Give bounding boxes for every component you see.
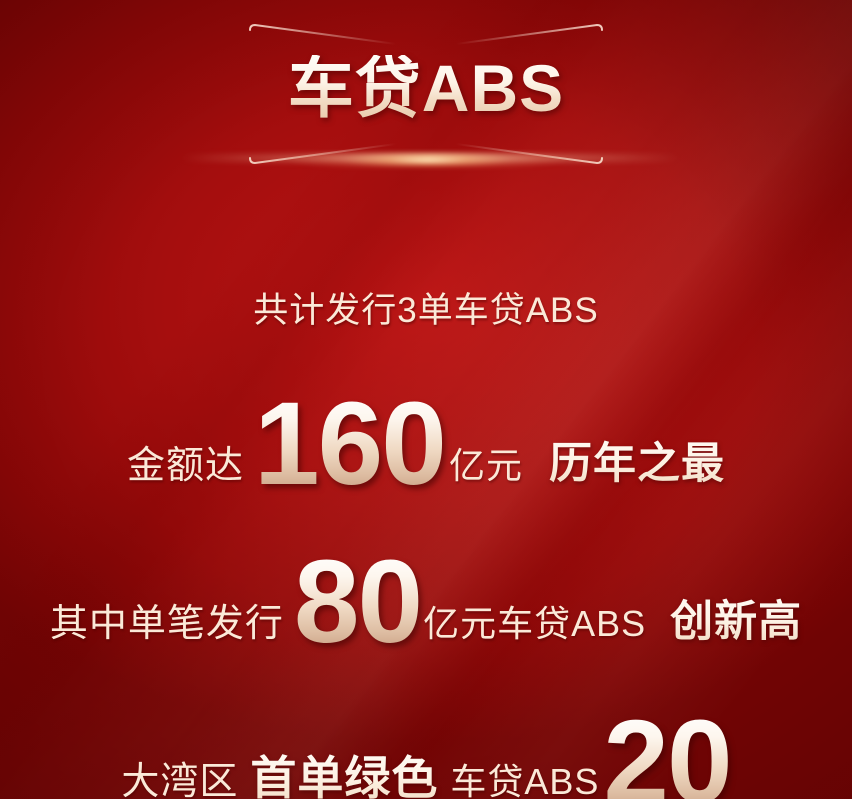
stat-line-160: 金额达 160 亿元 历年之最 [0, 385, 852, 491]
stat-number-20: 20 [603, 709, 730, 799]
lead-text: 共计发行3单车贷ABS [253, 282, 599, 333]
stat-number-80: 80 [294, 549, 421, 655]
stat-unit-20: 车贷ABS [450, 753, 599, 799]
stat-line-80: 其中单笔发行 80 亿元车贷ABS 创新高 [0, 543, 852, 649]
stat-prefix-amount: 金额达 [127, 434, 244, 489]
stat-highlight-green: 首单绿色 [250, 742, 438, 799]
title-glow-wide [180, 154, 680, 162]
stat-suffix-80: 创新高 [670, 587, 802, 649]
stat-line-lead: 共计发行3单车贷ABS [0, 282, 852, 333]
stat-prefix-single: 其中单笔发行 [50, 592, 284, 647]
stats-block: 共计发行3单车贷ABS 金额达 160 亿元 历年之最 其中单笔发行 80 亿元… [0, 282, 852, 799]
stat-number-160: 160 [254, 391, 445, 497]
title-container: 车贷ABS [0, 55, 852, 121]
stat-unit-80: 亿元车贷ABS [423, 595, 646, 647]
promo-poster: 车贷ABS 共计发行3单车贷ABS 金额达 160 亿元 历年之最 其中单笔发行… [0, 0, 852, 799]
stat-line-20: 大湾区 首单绿色 车贷ABS 20 [0, 701, 852, 799]
page-title: 车贷ABS [288, 55, 564, 121]
stat-unit-160: 亿元 [449, 437, 523, 489]
stat-prefix-region: 大湾区 [121, 750, 238, 799]
title-glow-core [245, 152, 610, 168]
stat-suffix-160: 历年之最 [549, 429, 725, 491]
